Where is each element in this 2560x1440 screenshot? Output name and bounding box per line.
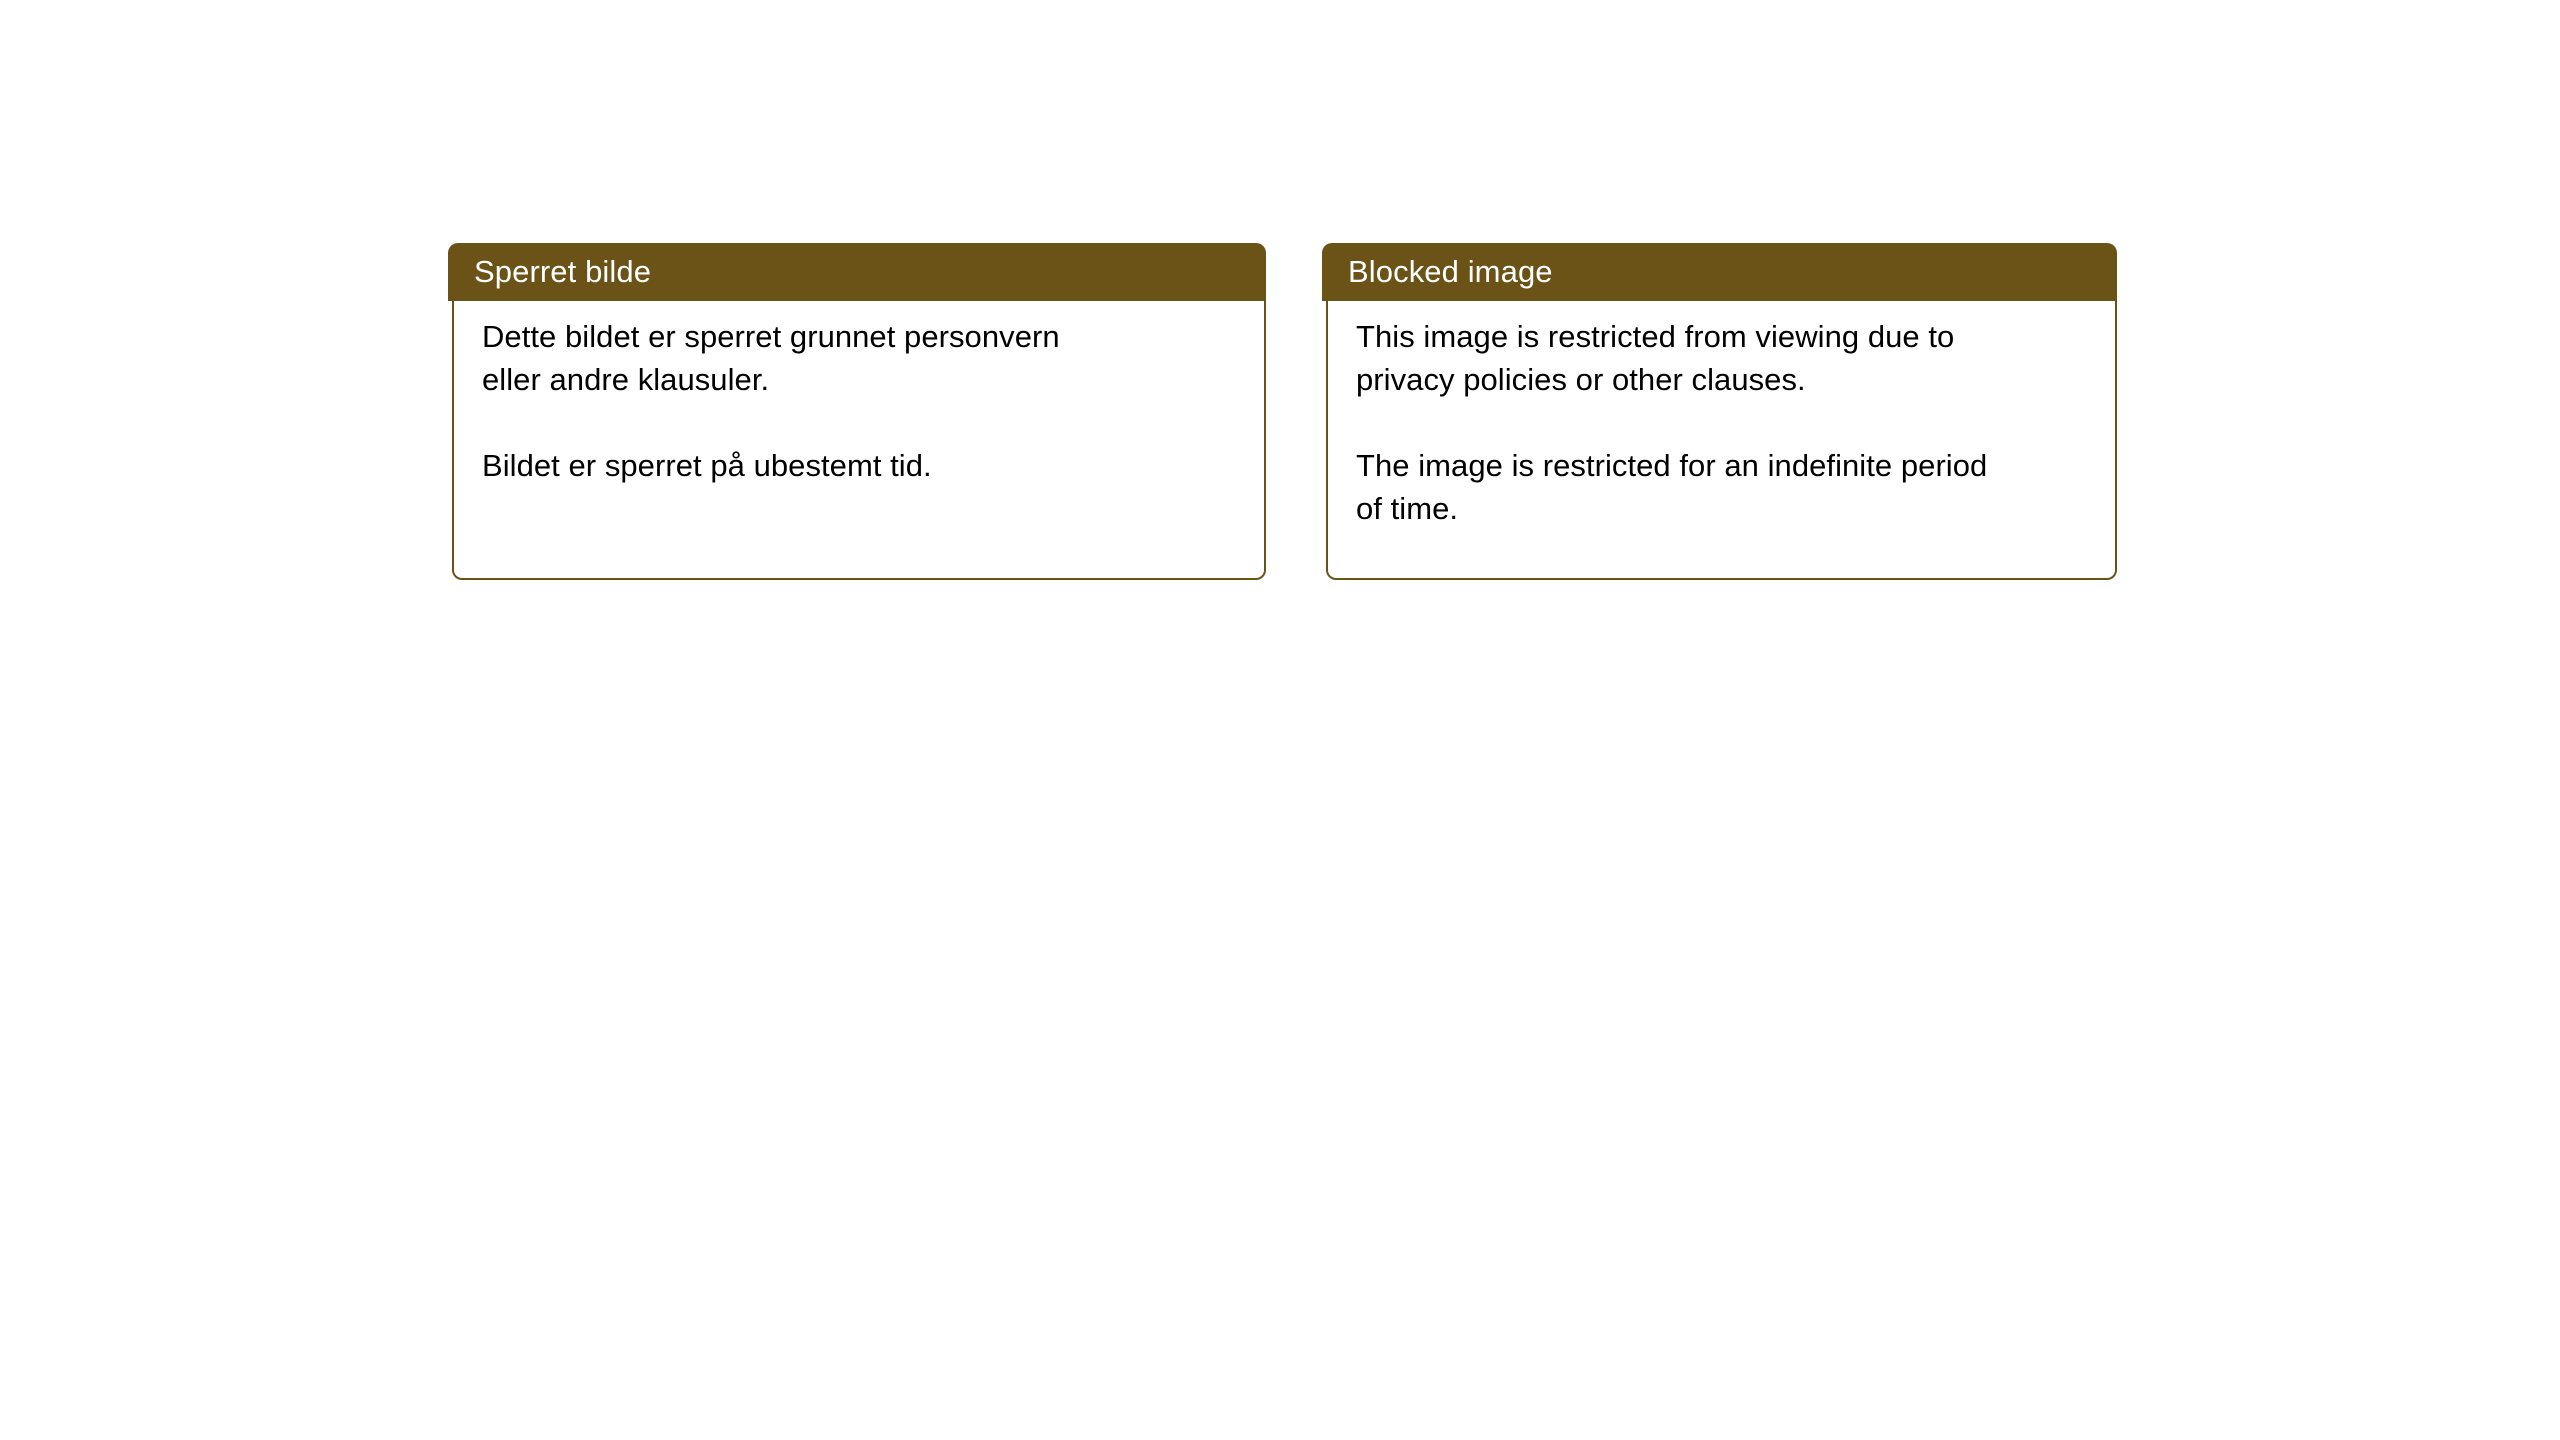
notice-line-en-4: of time. bbox=[1356, 487, 2097, 530]
notice-header-no: Sperret bilde bbox=[448, 243, 1266, 301]
blocked-image-notice-en: Blocked image This image is restricted f… bbox=[1322, 243, 2117, 580]
notice-line-en-3: The image is restricted for an indefinit… bbox=[1356, 444, 2097, 487]
notice-line-en-1: This image is restricted from viewing du… bbox=[1356, 315, 2097, 358]
blocked-image-notice-no: Sperret bilde Dette bildet er sperret gr… bbox=[448, 243, 1266, 580]
notice-line-no-3: Bildet er sperret på ubestemt tid. bbox=[482, 444, 1246, 487]
notice-header-en: Blocked image bbox=[1322, 243, 2117, 301]
notice-text-block-no: Dette bildet er sperret grunnet personve… bbox=[482, 315, 1246, 487]
notice-text-block-en: This image is restricted from viewing du… bbox=[1356, 315, 2097, 530]
notice-paragraph-gap-no bbox=[482, 401, 1246, 444]
page-canvas: Sperret bilde Dette bildet er sperret gr… bbox=[0, 0, 2560, 1440]
notice-title-no: Sperret bilde bbox=[474, 255, 651, 289]
notice-line-no-2: eller andre klausuler. bbox=[482, 358, 1246, 401]
notice-line-no-1: Dette bildet er sperret grunnet personve… bbox=[482, 315, 1246, 358]
notice-title-en: Blocked image bbox=[1348, 255, 1553, 289]
notice-body-en: This image is restricted from viewing du… bbox=[1326, 295, 2117, 580]
notice-line-en-2: privacy policies or other clauses. bbox=[1356, 358, 2097, 401]
notice-paragraph-gap-en bbox=[1356, 401, 2097, 444]
notice-body-no: Dette bildet er sperret grunnet personve… bbox=[452, 295, 1266, 580]
